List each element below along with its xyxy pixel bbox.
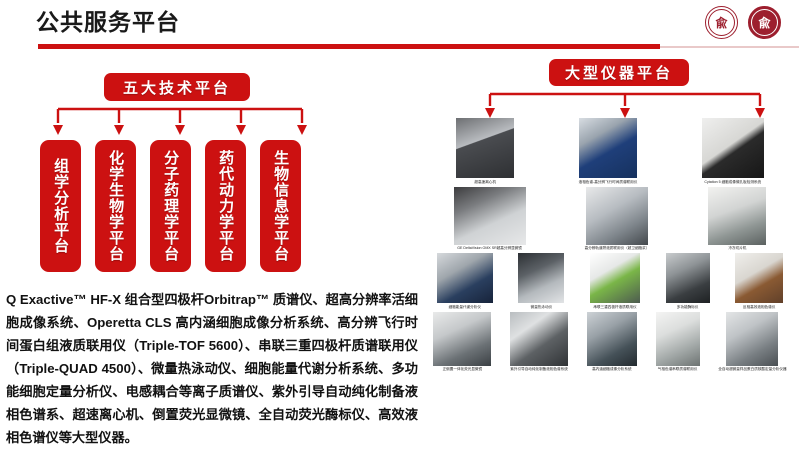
- instrument-photo: [735, 253, 783, 303]
- instrument-photo: [579, 118, 637, 178]
- instrument-cell[interactable]: 细胞能量代谢分析仪: [437, 253, 493, 310]
- title-rule-thick: [38, 44, 660, 49]
- instrument-cell[interactable]: 正倒置一体化荧光显微镜: [433, 312, 491, 373]
- seal-glyph: 兪: [758, 16, 770, 28]
- instrument-cell[interactable]: 超高速离心机: [456, 118, 514, 185]
- instrument-row-4: 正倒置一体化荧光显微镜紫外引导自动纯化制备液相色谱系统高内涵细胞成像分析系统气相…: [424, 312, 796, 373]
- instrument-caption: 高分辨轨道阱液质联用仪（超卫细胞浆）: [585, 246, 650, 251]
- instrument-caption: 高内涵细胞成像分析系统: [592, 367, 632, 372]
- instrument-photo: [666, 253, 710, 303]
- platform-box-omics[interactable]: 组学分析平台: [40, 140, 81, 272]
- instrument-caption: 全自动超微量样品蛋白质核酸定量分析仪器: [718, 367, 786, 372]
- instrument-cell[interactable]: 反相高效液相色谱仪: [735, 253, 783, 310]
- slide-canvas: 公共服务平台 兪 兪 五大技术平台 组学分析平台 化学生物学平台: [0, 0, 799, 452]
- instrument-cell[interactable]: 气相色谱串联质谱联用仪: [656, 312, 700, 373]
- left-panel-heading: 五大技术平台: [104, 73, 250, 101]
- instrument-cell[interactable]: 液相色谱-高分辨飞行时间质谱联用仪: [579, 118, 638, 185]
- instrument-photo: [702, 118, 764, 178]
- platform-box-bioinformatics[interactable]: 生物信息学平台: [260, 140, 301, 272]
- right-panel-heading: 大型仪器平台: [549, 59, 689, 86]
- instrument-photo: [587, 312, 637, 366]
- university-seal-1-icon: 兪: [705, 6, 738, 39]
- instrument-row-2: GE DeltaVision OMX SR超高分辨显微镜高分辨轨道阱液质联用仪（…: [424, 187, 796, 252]
- instrument-cell[interactable]: 紫外引导自动纯化制备液相色谱系统: [510, 312, 568, 373]
- instrument-cell[interactable]: 多功能酶标仪: [666, 253, 710, 310]
- instrument-photo: [708, 187, 766, 245]
- instrument-cell[interactable]: 高内涵细胞成像分析系统: [587, 312, 637, 373]
- instrument-cell[interactable]: Cytation 5 细胞成像微孔板检测系统: [702, 118, 764, 185]
- instrument-cell[interactable]: 冷冻切片机: [708, 187, 766, 252]
- platform-description: Q Exactive™ HF-X 组合型四极杆Orbitrap™ 质谱仪、超高分…: [6, 288, 418, 449]
- instrument-caption: 气相色谱串联质谱联用仪: [658, 367, 698, 372]
- instrument-row-3: 细胞能量代谢分析仪微量热泳动仪串联三重四极杆液质联用仪多功能酶标仪反相高效液相色…: [424, 253, 796, 310]
- title-rule-thin: [660, 46, 799, 48]
- platform-box-row: 组学分析平台 化学生物学平台 分子药理学平台 药代动力学平台 生物信息学平台: [40, 140, 301, 272]
- instrument-photo: [510, 312, 568, 366]
- seal-glyph: 兪: [715, 16, 727, 28]
- instrument-caption: 串联三重四极杆液质联用仪: [593, 305, 636, 310]
- platform-box-molpharm[interactable]: 分子药理学平台: [150, 140, 191, 272]
- page-title: 公共服务平台: [36, 8, 180, 36]
- instrument-cell[interactable]: 串联三重四极杆液质联用仪: [590, 253, 640, 310]
- instrument-photo: [518, 253, 564, 303]
- instrument-caption: 冷冻切片机: [728, 246, 746, 251]
- instrument-cell[interactable]: GE DeltaVision OMX SR超高分辨显微镜: [454, 187, 526, 252]
- instrument-cell[interactable]: 高分辨轨道阱液质联用仪（超卫细胞浆）: [585, 187, 650, 252]
- instrument-caption: 液相色谱-高分辨飞行时间质谱联用仪: [579, 180, 638, 185]
- instrument-caption: 超高速离心机: [474, 180, 496, 185]
- instrument-photo: [437, 253, 493, 303]
- instrument-photo: [586, 187, 648, 245]
- instrument-caption: 多功能酶标仪: [677, 305, 699, 310]
- university-seal-2-icon: 兪: [748, 6, 781, 39]
- instrument-photo: [656, 312, 700, 366]
- instrument-caption: 微量热泳动仪: [531, 305, 553, 310]
- instrument-caption: GE DeltaVision OMX SR超高分辨显微镜: [457, 246, 522, 251]
- logo-group: 兪 兪: [705, 6, 781, 39]
- instrument-grid: 超高速离心机液相色谱-高分辨飞行时间质谱联用仪Cytation 5 细胞成像微孔…: [424, 118, 796, 374]
- platform-box-chembio[interactable]: 化学生物学平台: [95, 140, 136, 272]
- instrument-photo: [456, 118, 514, 178]
- instrument-photo: [433, 312, 491, 366]
- instrument-photo: [726, 312, 778, 366]
- left-connector-arrows: [40, 101, 320, 141]
- instrument-photo: [454, 187, 526, 245]
- instrument-caption: Cytation 5 细胞成像微孔板检测系统: [704, 180, 761, 185]
- instrument-cell[interactable]: 全自动超微量样品蛋白质核酸定量分析仪器: [718, 312, 786, 373]
- instrument-cell[interactable]: 微量热泳动仪: [518, 253, 564, 310]
- instrument-caption: 紫外引导自动纯化制备液相色谱系统: [510, 367, 568, 372]
- instrument-row-1: 超高速离心机液相色谱-高分辨飞行时间质谱联用仪Cytation 5 细胞成像微孔…: [424, 118, 796, 185]
- platform-box-pharmakinetics[interactable]: 药代动力学平台: [205, 140, 246, 272]
- instrument-caption: 细胞能量代谢分析仪: [449, 305, 481, 310]
- instrument-caption: 反相高效液相色谱仪: [743, 305, 775, 310]
- instrument-photo: [590, 253, 640, 303]
- instrument-caption: 正倒置一体化荧光显微镜: [443, 367, 483, 372]
